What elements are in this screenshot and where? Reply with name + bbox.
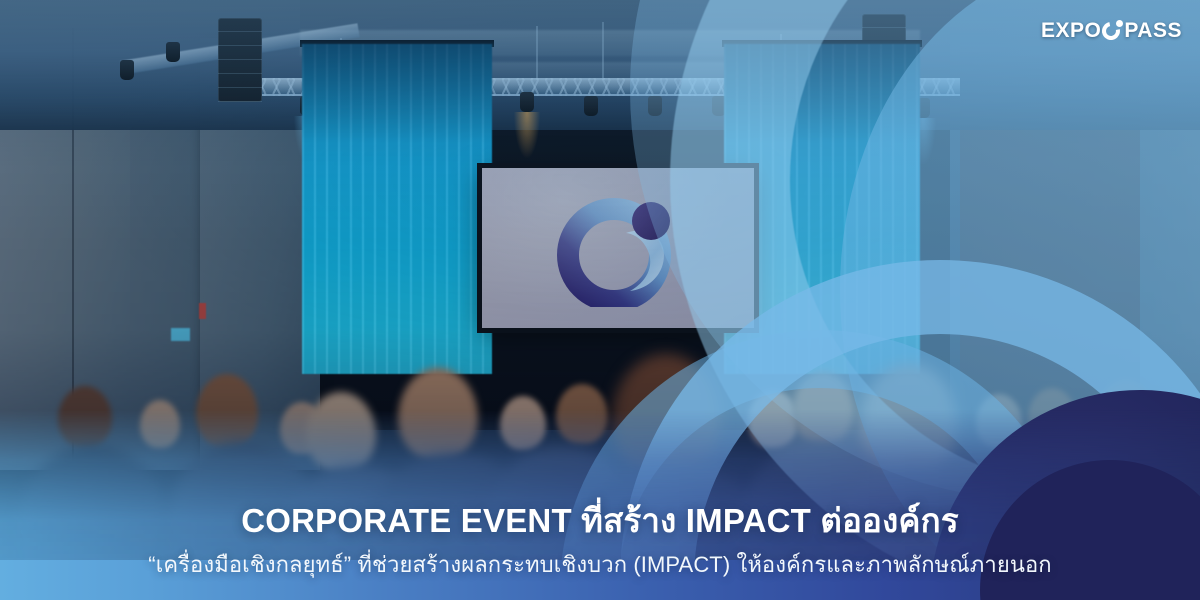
headline: CORPORATE EVENT ที่สร้าง IMPACT ต่อองค์ก… (0, 503, 1200, 540)
expopass-ring-dot-icon (1102, 20, 1123, 41)
corporate-event-banner: EXPO PASS CORPORATE EVENT ที่สร้าง IMPAC… (0, 0, 1200, 600)
logo-text-expo: EXPO (1041, 20, 1101, 41)
subheadline: “เครื่องมือเชิงกลยุทธ์” ที่ช่วยสร้างผลกร… (0, 552, 1200, 578)
expopass-logo[interactable]: EXPO PASS (1041, 20, 1182, 41)
banner-copy: CORPORATE EVENT ที่สร้าง IMPACT ต่อองค์ก… (0, 503, 1200, 578)
logo-text-pass: PASS (1124, 20, 1182, 41)
logo-dot-shape (1116, 20, 1123, 27)
